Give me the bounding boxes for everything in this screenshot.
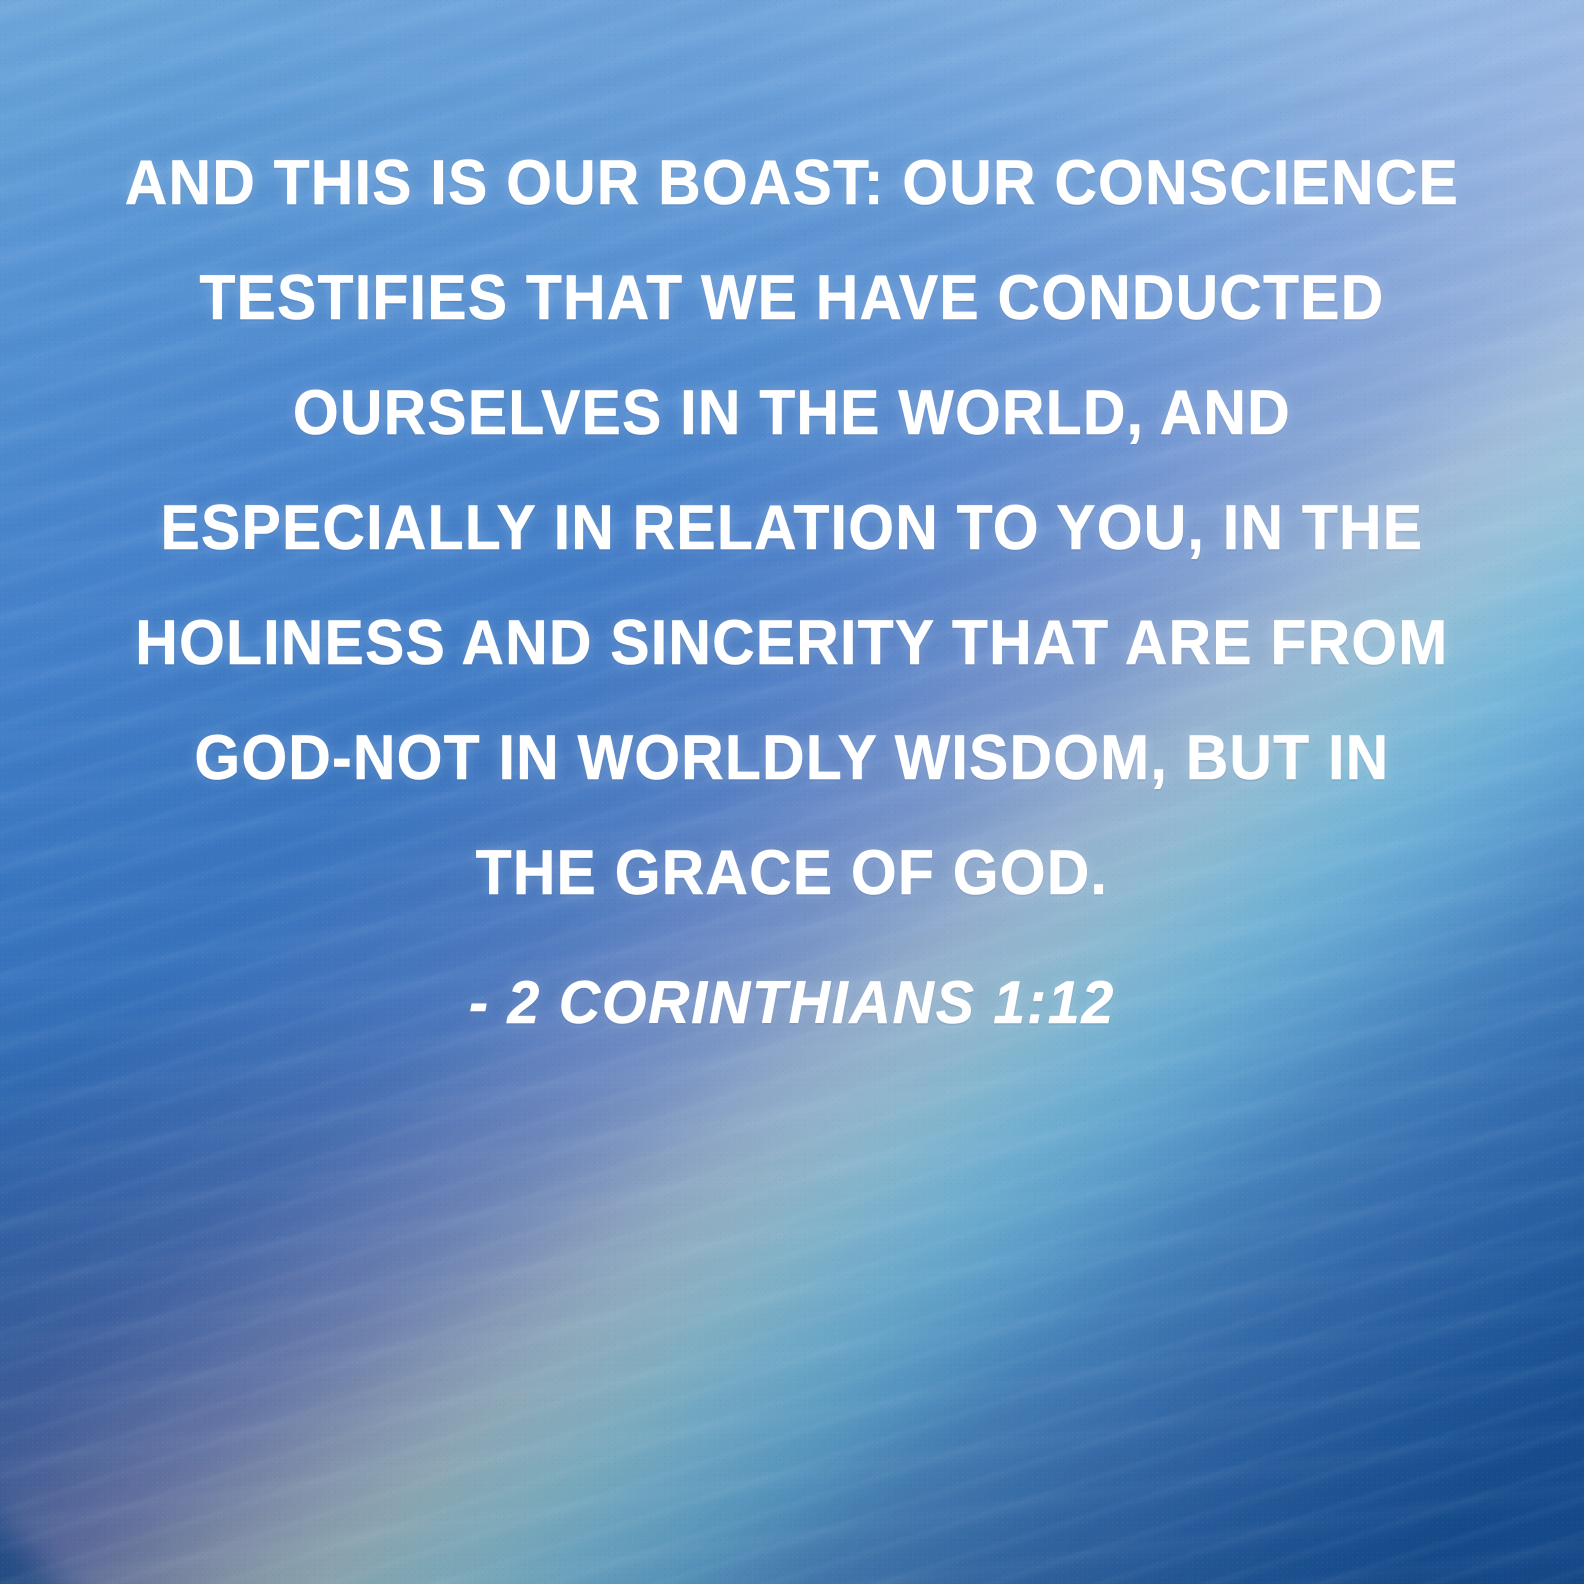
verse-line: testifies that we have conducted: [121, 241, 1464, 356]
verse-image-canvas: And this is our boast: Our conscience te…: [0, 0, 1584, 1584]
verse-line: the grace of God.: [121, 816, 1464, 931]
verse-line: God-not in worldly wisdom, but in: [121, 701, 1464, 816]
verse-line: And this is our boast: Our conscience: [121, 126, 1464, 241]
verse-line: especially in relation to you, in the: [121, 471, 1464, 586]
verse-text-block: And this is our boast: Our conscience te…: [0, 126, 1584, 931]
verse-attribution: - 2 Corinthians 1:12: [40, 955, 1545, 1051]
verse-line: ourselves in the world, and: [121, 356, 1464, 471]
verse-line: holiness and sincerity that are from: [121, 586, 1464, 701]
